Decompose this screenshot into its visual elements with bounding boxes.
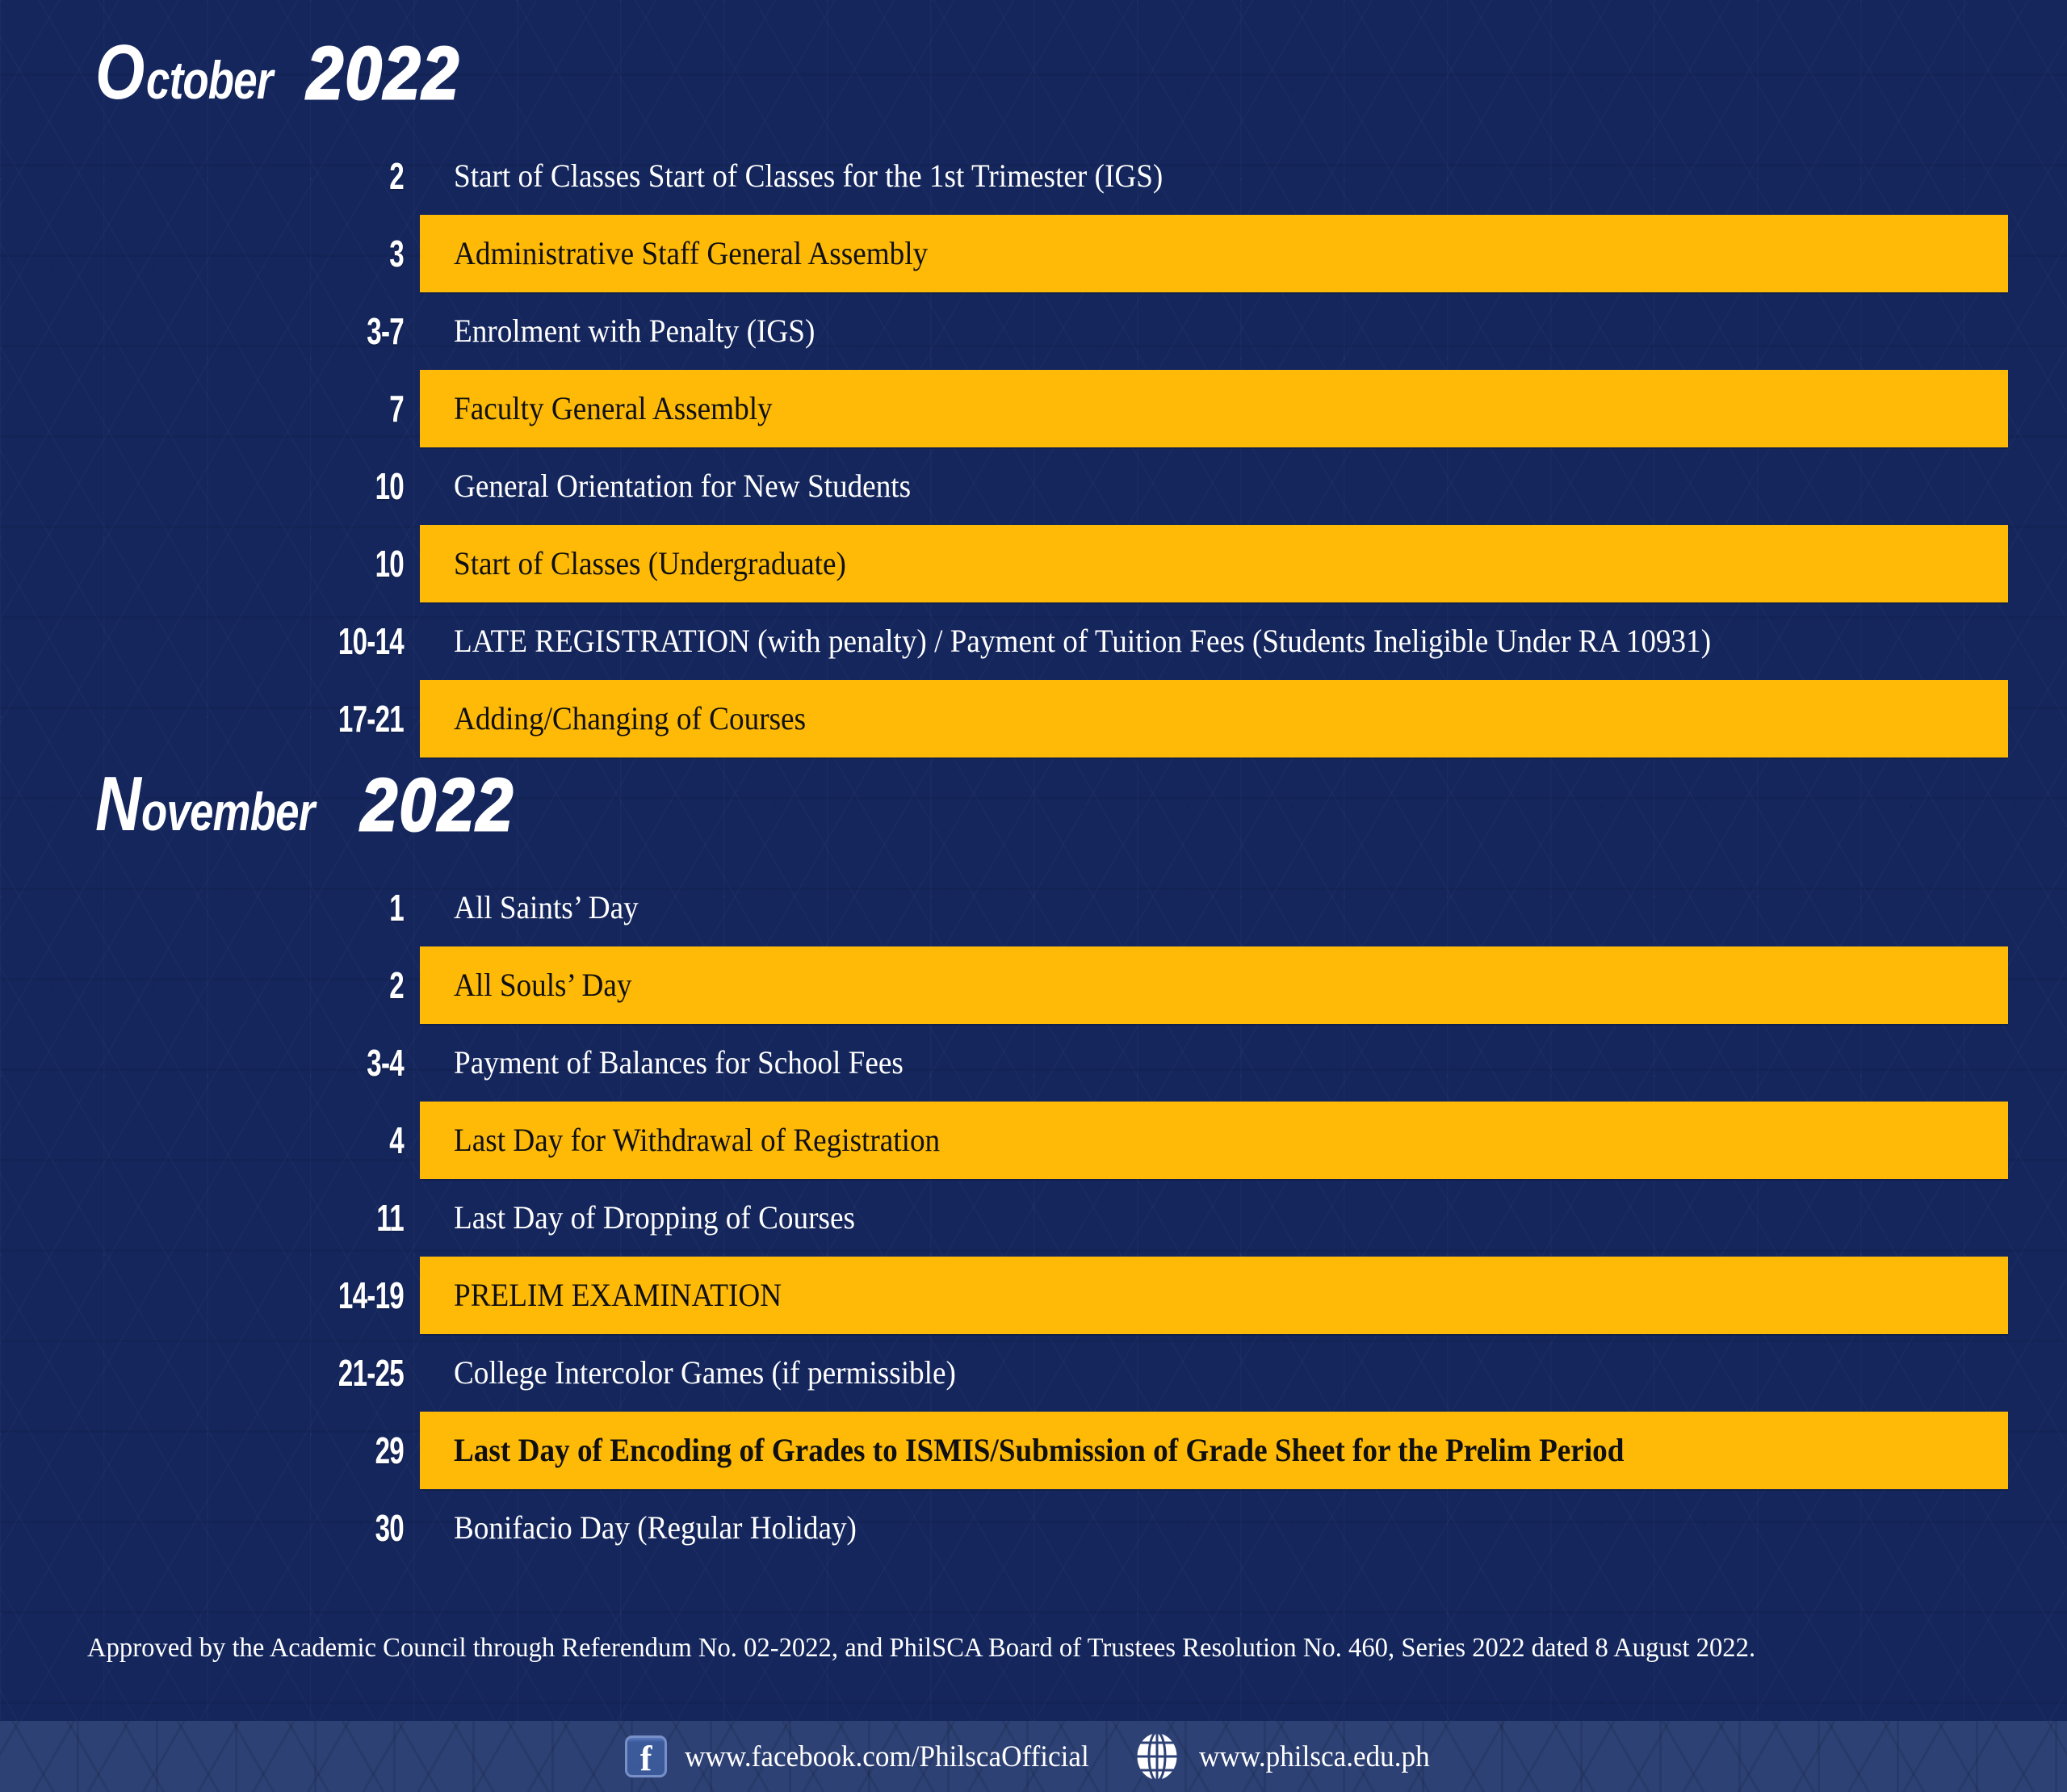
- row-date: 7: [113, 390, 404, 427]
- row-date: 3-7: [113, 313, 404, 350]
- calendar-row: 10General Orientation for New Students: [0, 447, 2067, 525]
- calendar-row: 30Bonifacio Day (Regular Holiday): [0, 1489, 2067, 1567]
- row-date: 2: [113, 967, 404, 1004]
- row-event-label: All Souls’ Day: [454, 967, 1924, 1004]
- row-event-label: Start of Classes (Undergraduate): [454, 546, 1924, 582]
- row-event-label: Bonifacio Day (Regular Holiday): [454, 1510, 1924, 1546]
- calendar-row: 1All Saints’ Day: [0, 869, 2067, 946]
- row-date: 10-14: [113, 623, 404, 660]
- month-initial: O: [95, 34, 144, 111]
- row-date: 10: [113, 545, 404, 582]
- month-heading-november: November2022: [95, 766, 536, 843]
- facebook-glyph: f: [640, 1743, 652, 1775]
- facebook-url-label: www.facebook.com/PhilscaOfficial: [685, 1742, 1089, 1772]
- calendar-row: 7Faculty General Assembly: [0, 370, 2067, 447]
- row-date: 11: [113, 1199, 404, 1236]
- calendar-row: 11Last Day of Dropping of Courses: [0, 1179, 2067, 1257]
- row-event-label: LATE REGISTRATION (with penalty) / Payme…: [454, 623, 1924, 660]
- calendar-row: 3Administrative Staff General Assembly: [0, 215, 2067, 292]
- row-event-label: PRELIM EXAMINATION: [454, 1278, 1924, 1314]
- calendar-row: 3-4Payment of Balances for School Fees: [0, 1024, 2067, 1102]
- row-date: 14-19: [113, 1277, 404, 1314]
- month-name-rest: ovember: [141, 785, 315, 838]
- facebook-icon[interactable]: f: [625, 1735, 667, 1777]
- row-date: 4: [113, 1122, 404, 1159]
- row-date: 1: [113, 889, 404, 926]
- calendar-row: 14-19PRELIM EXAMINATION: [0, 1257, 2067, 1334]
- row-date: 2: [113, 157, 404, 195]
- row-event-label: Start of Classes Start of Classes for th…: [454, 158, 1924, 195]
- calendar-row: 17-21Adding/Changing of Courses: [0, 680, 2067, 758]
- row-event-label: Last Day of Encoding of Grades to ISMIS/…: [454, 1433, 1924, 1469]
- row-event-label: Last Day for Withdrawal of Registration: [454, 1123, 1924, 1159]
- row-date: 30: [113, 1509, 404, 1546]
- row-event-label: All Saints’ Day: [454, 890, 1924, 926]
- month-year: 2022: [361, 768, 515, 842]
- month-year: 2022: [307, 36, 461, 111]
- bottom-contact-bar: f www.facebook.com/PhilscaOfficial www.p…: [0, 1721, 2067, 1792]
- approval-note: Approved by the Academic Council through…: [87, 1632, 1948, 1664]
- row-event-label: Enrolment with Penalty (IGS): [454, 313, 1924, 350]
- globe-icon[interactable]: [1133, 1731, 1181, 1782]
- row-event-label: Administrative Staff General Assembly: [454, 236, 1924, 272]
- calendar-row: 29Last Day of Encoding of Grades to ISMI…: [0, 1412, 2067, 1489]
- calendar-row: 21-25College Intercolor Games (if permis…: [0, 1334, 2067, 1412]
- row-event-label: College Intercolor Games (if permissible…: [454, 1355, 1924, 1391]
- website-url-label: www.philsca.edu.ph: [1199, 1742, 1430, 1772]
- row-date: 17-21: [113, 700, 404, 737]
- month-name-rest: ctober: [146, 53, 273, 107]
- row-date: 3-4: [113, 1044, 404, 1081]
- month-heading-october: October2022: [95, 34, 482, 111]
- row-event-label: Faculty General Assembly: [454, 391, 1924, 427]
- calendar-row: 2All Souls’ Day: [0, 946, 2067, 1024]
- facebook-link[interactable]: f www.facebook.com/PhilscaOfficial: [625, 1735, 1110, 1777]
- row-event-label: Last Day of Dropping of Courses: [454, 1200, 1924, 1236]
- row-event-label: General Orientation for New Students: [454, 468, 1924, 505]
- calendar-row: 2Start of Classes Start of Classes for t…: [0, 137, 2067, 215]
- row-date: 29: [113, 1432, 404, 1469]
- row-event-label: Payment of Balances for School Fees: [454, 1045, 1924, 1081]
- row-event-label: Adding/Changing of Courses: [454, 701, 1924, 737]
- row-date: 10: [113, 468, 404, 505]
- month-initial: N: [95, 766, 140, 843]
- website-link[interactable]: www.philsca.edu.ph: [1133, 1731, 1442, 1782]
- calendar-row: 4Last Day for Withdrawal of Registration: [0, 1102, 2067, 1179]
- academic-calendar-page: October20222Start of Classes Start of Cl…: [0, 0, 2067, 1792]
- row-date: 21-25: [113, 1354, 404, 1391]
- calendar-row: 10-14LATE REGISTRATION (with penalty) / …: [0, 602, 2067, 680]
- calendar-row: 10Start of Classes (Undergraduate): [0, 525, 2067, 602]
- row-date: 3: [113, 235, 404, 272]
- calendar-row: 3-7Enrolment with Penalty (IGS): [0, 292, 2067, 370]
